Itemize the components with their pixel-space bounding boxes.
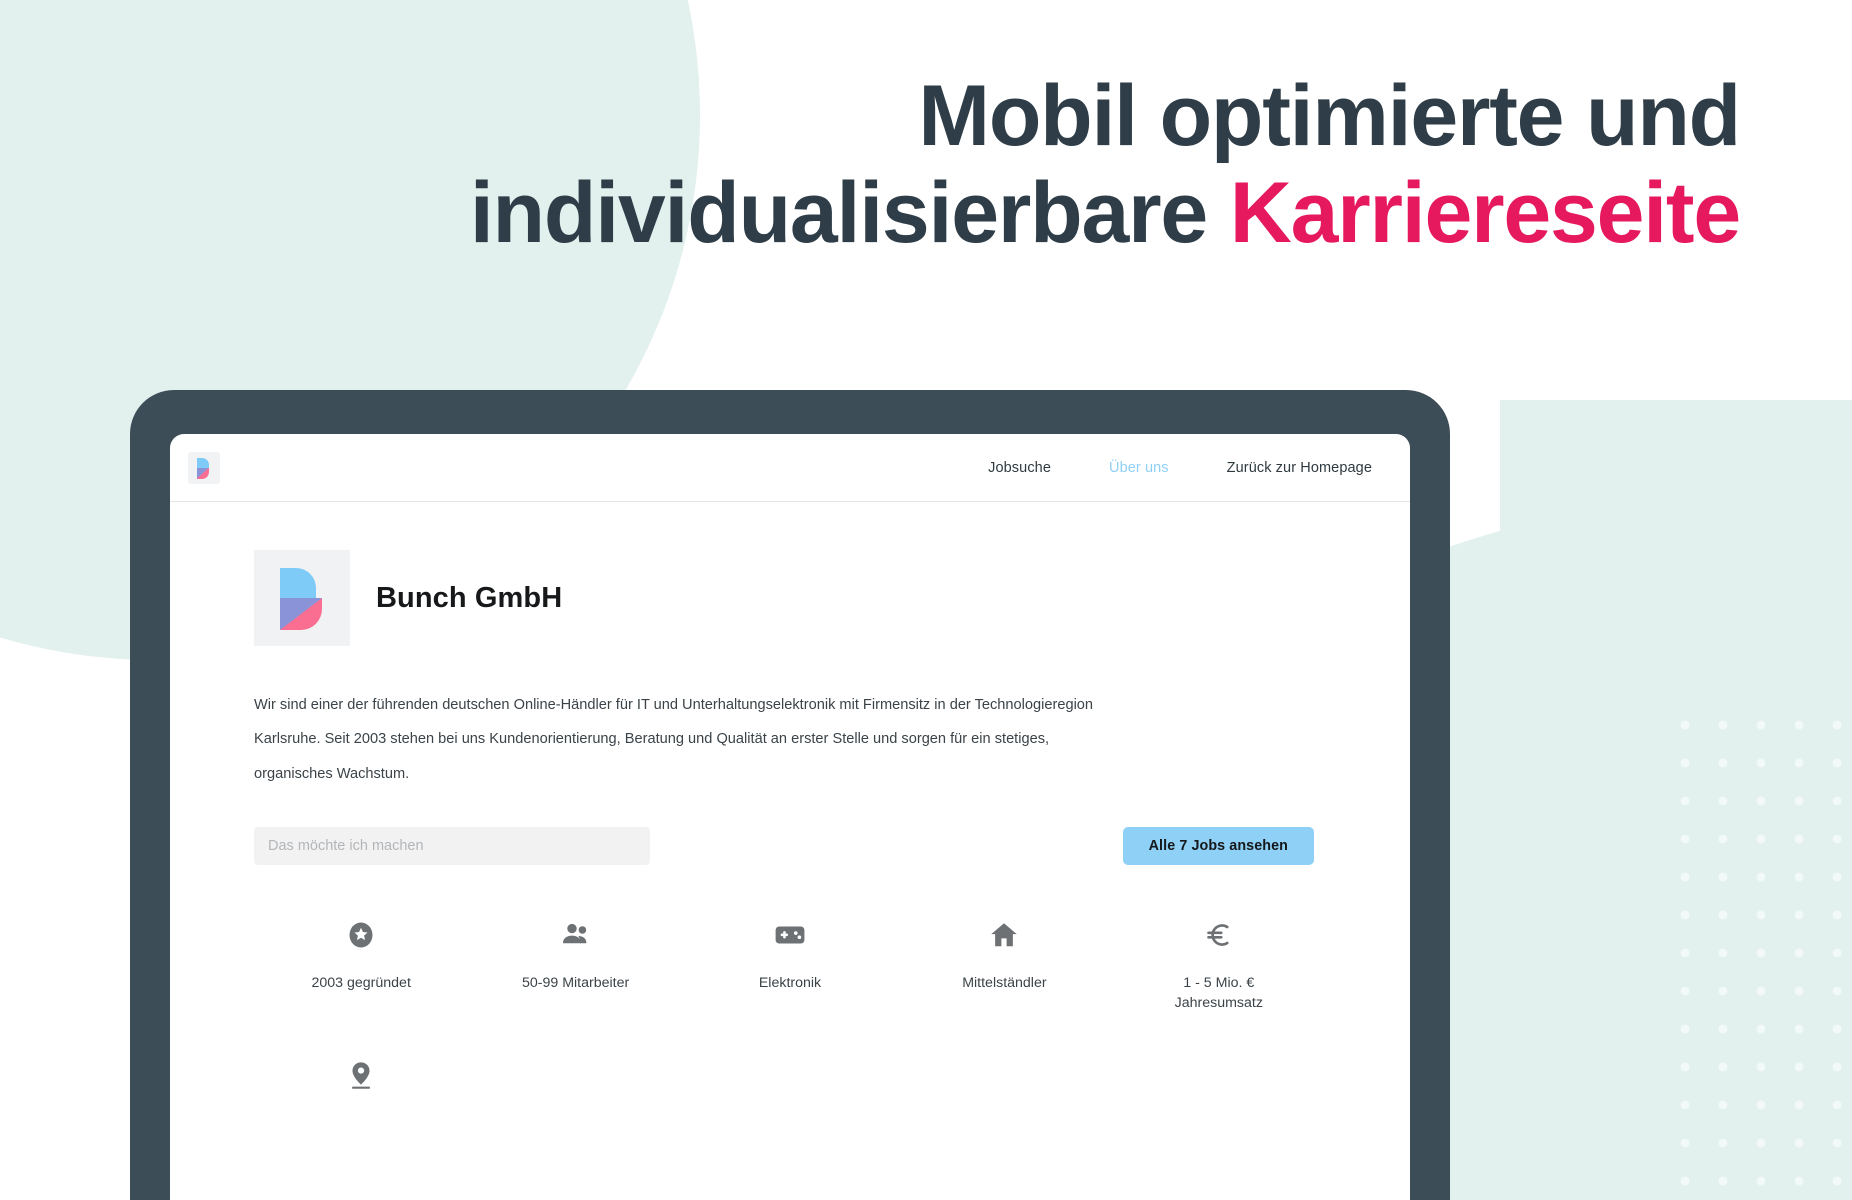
- decorative-dot-pattern: [1660, 700, 1852, 1200]
- company-logo-shape-top: [280, 568, 316, 598]
- euro-icon: [1204, 919, 1234, 951]
- fact-revenue: 1 - 5 Mio. € Jahresumsatz: [1112, 919, 1326, 1014]
- fact-company-size-label: Mittelständler: [962, 973, 1046, 994]
- home-icon: [989, 919, 1019, 951]
- hero-headline: Mobil optimierte und individualisierbare…: [0, 70, 1740, 260]
- nav-link-jobsuche[interactable]: Jobsuche: [988, 460, 1051, 476]
- company-b-logo-icon: [254, 550, 350, 646]
- screenshot-root: Mobil optimierte und individualisierbare…: [0, 0, 1852, 1200]
- gamepad-icon: [774, 919, 806, 951]
- fact-founded: 2003 gegründet: [254, 919, 468, 1014]
- hero-headline-accent: Karriereseite: [1230, 165, 1740, 261]
- nav-link-zurueck-zur-homepage[interactable]: Zurück zur Homepage: [1227, 460, 1372, 476]
- view-all-jobs-button[interactable]: Alle 7 Jobs ansehen: [1123, 827, 1314, 865]
- people-icon: [560, 919, 592, 951]
- bunch-b-logo-icon[interactable]: [188, 452, 220, 484]
- job-search-input[interactable]: [254, 827, 650, 865]
- fact-revenue-label: 1 - 5 Mio. € Jahresumsatz: [1175, 973, 1263, 1014]
- company-description: Wir sind einer der führenden deutschen O…: [254, 688, 1099, 791]
- company-name: Bunch GmbH: [376, 582, 562, 615]
- tablet-device-frame: Jobsuche Über uns Zurück zur Homepage Bu…: [130, 390, 1450, 1200]
- location-pin-icon: [347, 1060, 375, 1092]
- fact-location: [254, 1060, 468, 1114]
- fact-company-size: Mittelständler: [897, 919, 1111, 1014]
- fact-employees: 50-99 Mitarbeiter: [468, 919, 682, 1014]
- logo-shape-top: [197, 458, 209, 468]
- star-badge-icon: [346, 919, 376, 951]
- site-nav-links: Jobsuche Über uns Zurück zur Homepage: [988, 460, 1388, 476]
- fact-industry-label: Elektronik: [759, 973, 821, 994]
- hero-headline-line1: Mobil optimierte und: [918, 68, 1740, 164]
- hero-headline-line2: individualisierbare Karriereseite: [0, 167, 1740, 260]
- tablet-screen: Jobsuche Über uns Zurück zur Homepage Bu…: [170, 434, 1410, 1200]
- fact-employees-label: 50-99 Mitarbeiter: [522, 973, 629, 994]
- company-action-row: Alle 7 Jobs ansehen: [254, 827, 1326, 865]
- fact-founded-label: 2003 gegründet: [311, 973, 410, 994]
- company-header: Bunch GmbH: [254, 550, 1326, 646]
- nav-link-ueber-uns[interactable]: Über uns: [1109, 460, 1169, 476]
- company-page-body: Bunch GmbH Wir sind einer der führenden …: [170, 502, 1410, 1114]
- hero-headline-line2-plain: individualisierbare: [470, 165, 1230, 261]
- site-navbar: Jobsuche Über uns Zurück zur Homepage: [170, 434, 1410, 502]
- company-facts-grid: 2003 gegründet 50-99 Mitarbeiter: [254, 919, 1326, 1114]
- fact-industry: Elektronik: [683, 919, 897, 1014]
